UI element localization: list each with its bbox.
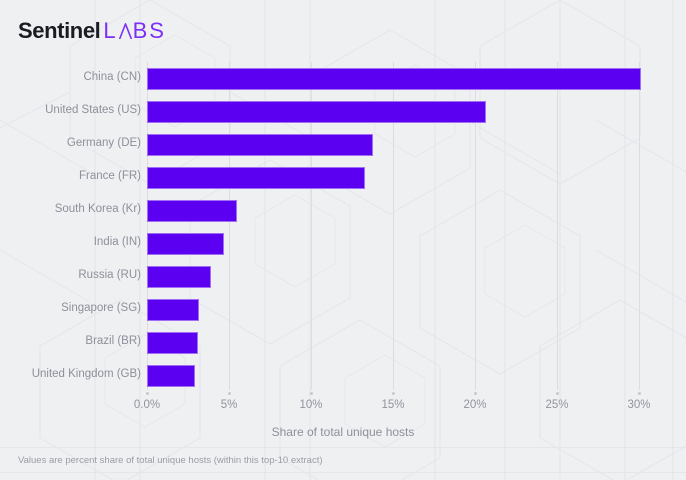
bar[interactable]	[147, 68, 641, 90]
bar[interactable]	[147, 101, 486, 123]
category-label: China (CN)	[0, 71, 141, 83]
x-axis-ticklabel: 5%	[221, 399, 238, 411]
category-label: France (FR)	[0, 170, 141, 182]
brand-logo-labs: LBS	[103, 18, 166, 44]
category-label: Russia (RU)	[0, 269, 141, 281]
footnote-text: Values are percent share of total unique…	[18, 455, 323, 466]
category-label: Brazil (BR)	[0, 335, 141, 347]
bar-row: United States (US)	[0, 100, 686, 133]
bar[interactable]	[147, 134, 373, 156]
bar[interactable]	[147, 299, 199, 321]
x-axis-ticklabel: 30%	[627, 399, 650, 411]
category-label: South Korea (Kr)	[0, 203, 141, 215]
x-axis-ticklabel: 15%	[381, 399, 404, 411]
x-axis-title: Share of total unique hosts	[0, 425, 686, 439]
bar[interactable]	[147, 167, 365, 189]
bar[interactable]	[147, 200, 237, 222]
chart-page: Sentinel LBS 0.0%5%10%15%20%25%30% China…	[0, 0, 686, 480]
triangle-a-icon	[119, 23, 132, 39]
brand-logo-labs-pre: L	[103, 18, 117, 43]
category-label: United States (US)	[0, 104, 141, 116]
brand-logo: Sentinel LBS	[18, 18, 166, 44]
bar-row: Russia (RU)	[0, 265, 686, 298]
bar-chart: 0.0%5%10%15%20%25%30% China (CN)United S…	[0, 0, 686, 480]
x-axis-ticklabel: 25%	[545, 399, 568, 411]
bar-row: South Korea (Kr)	[0, 199, 686, 232]
footnote-divider-bottom	[0, 472, 686, 473]
bar-row: Germany (DE)	[0, 133, 686, 166]
x-axis-ticklabel: 0.0%	[134, 399, 160, 411]
bar-row: United Kingdom (GB)	[0, 364, 686, 397]
brand-logo-labs-post: BS	[133, 18, 166, 43]
category-label: Singapore (SG)	[0, 302, 141, 314]
bar[interactable]	[147, 233, 224, 255]
category-label: Germany (DE)	[0, 137, 141, 149]
bar-row: China (CN)	[0, 67, 686, 100]
bar-row: India (IN)	[0, 232, 686, 265]
footnote-divider-top	[0, 447, 686, 448]
bar-row: Singapore (SG)	[0, 298, 686, 331]
bar-row: France (FR)	[0, 166, 686, 199]
bar[interactable]	[147, 365, 195, 387]
x-axis-ticklabel: 20%	[463, 399, 486, 411]
category-label: United Kingdom (GB)	[0, 368, 141, 380]
bar[interactable]	[147, 266, 211, 288]
brand-logo-sentinel: Sentinel	[18, 18, 100, 44]
bar-row: Brazil (BR)	[0, 331, 686, 364]
bar[interactable]	[147, 332, 198, 354]
category-label: India (IN)	[0, 236, 141, 248]
x-axis-ticklabel: 10%	[299, 399, 322, 411]
